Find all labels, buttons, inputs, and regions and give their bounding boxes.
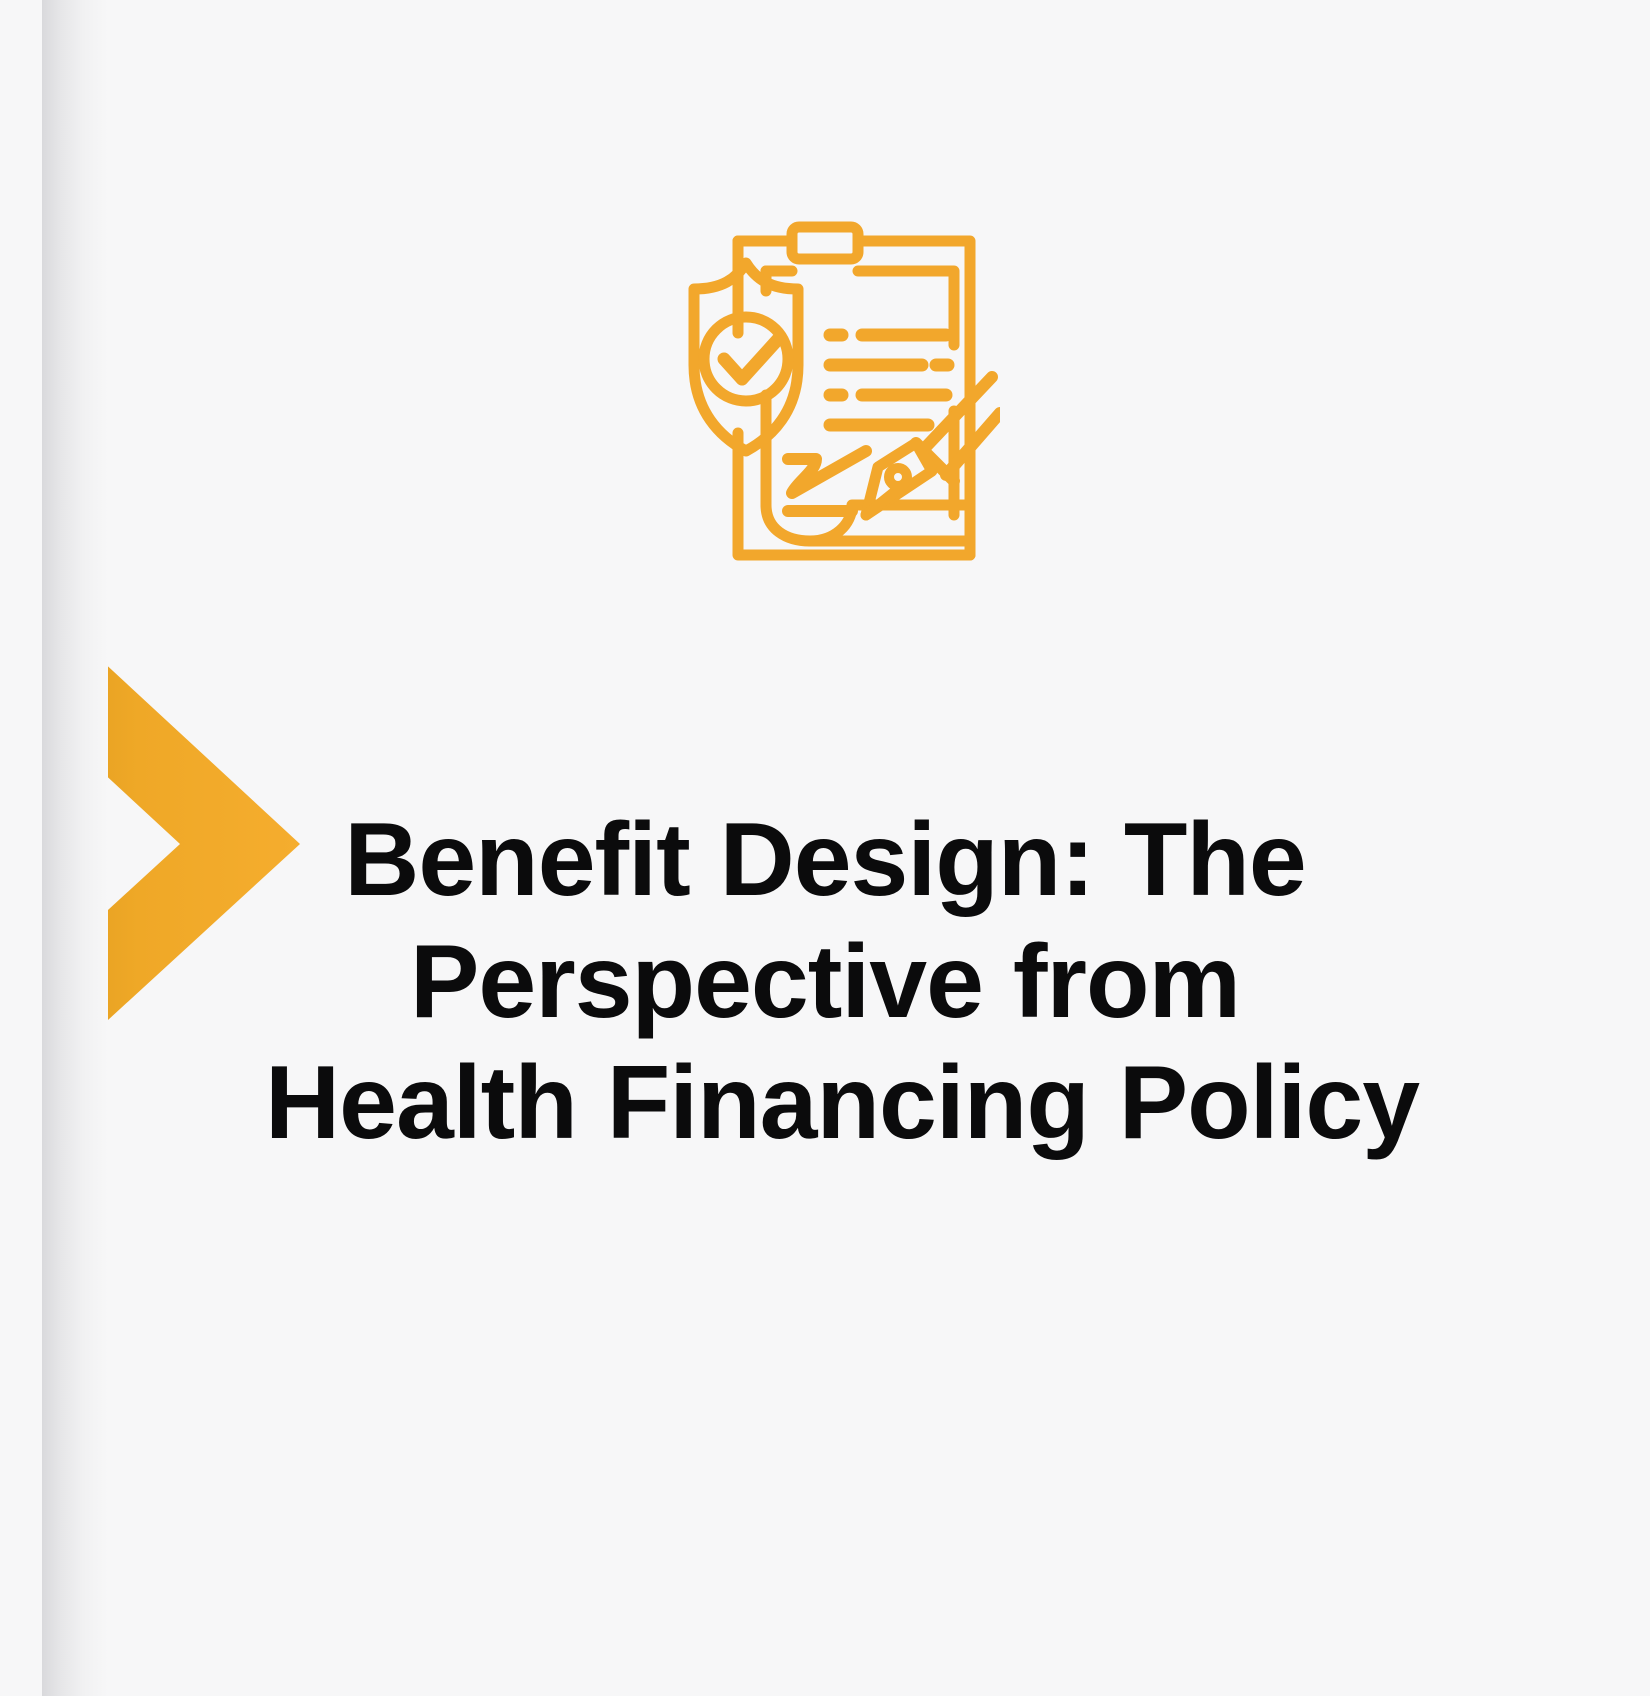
chevron-right-icon — [0, 612, 300, 1032]
icon-container — [0, 0, 1650, 700]
content-card: Benefit Design: The Perspective from Hea… — [0, 0, 1650, 1696]
left-gutter — [0, 0, 42, 1696]
page-title: Benefit Design: The Perspective from Hea… — [265, 800, 1385, 1165]
title-line-3: Health Financing Policy — [265, 1043, 1385, 1165]
title-line-2: Perspective from — [265, 922, 1385, 1044]
title-line-1: Benefit Design: The — [265, 800, 1385, 922]
signed-policy-clipboard-icon — [670, 215, 1000, 575]
